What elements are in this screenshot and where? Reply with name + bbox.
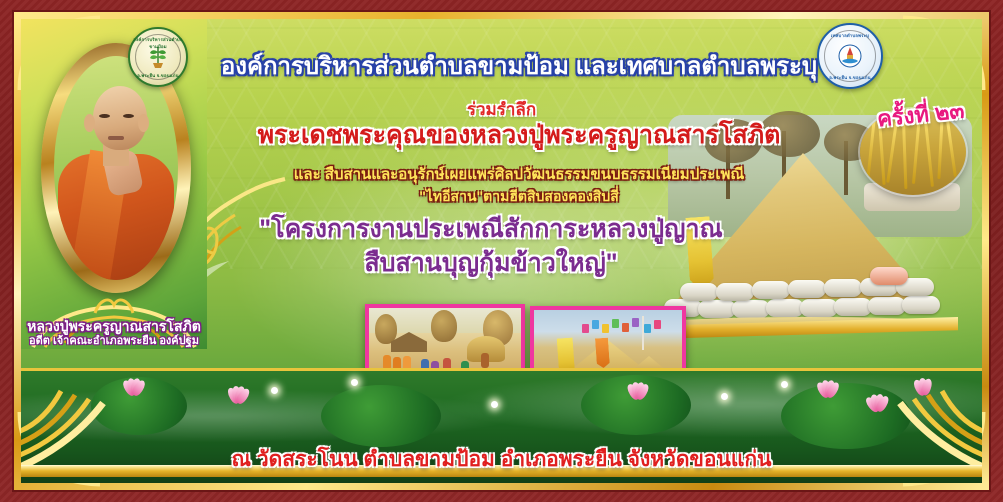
illustration-tree [375, 314, 397, 344]
project-title-line-2: สืบสานบุญกุ้มข้าวใหญ่" [161, 251, 821, 276]
project-title-line-1: "โครงการงานประเพณีสักการะหลวงปู่ญาณ [161, 217, 821, 242]
event-poster-banner: หลวงปู่พระครูญาณสารโสภิต อดีต เจ้าคณะอำเ… [0, 0, 1003, 502]
sparkle [491, 401, 498, 408]
flag-pole [642, 316, 644, 350]
sandbag-row [664, 275, 952, 319]
festival-flag [622, 323, 629, 332]
venue-line: ณ วัดสระโนน ตำบลขามป้อม อำเภอพระยืน จังห… [21, 449, 982, 470]
monk-name: หลวงปู่พระครูญาณสารโสภิต [21, 319, 207, 334]
festival-flag [612, 319, 619, 328]
monk-mouth [108, 136, 124, 140]
sparkle [781, 381, 788, 388]
festival-flag [602, 324, 609, 333]
festival-flag [654, 320, 661, 329]
festival-flag [644, 324, 651, 333]
sparkle [351, 379, 358, 386]
sao-kham-pom-seal: องค์การบริหารส่วนตำบลขามป้อม อ.พระยืน จ.… [128, 27, 188, 87]
sparkle [271, 387, 278, 394]
illustration-tree [431, 310, 457, 342]
orange-flag [595, 338, 610, 369]
seal-top-text: เทศบาลตำบลพระบุ [819, 32, 881, 39]
lotus-flower [621, 377, 655, 401]
honor-line: พระเดชพระคุณของหลวงปู่พระครูญาณสารโสภิต [169, 123, 869, 148]
monk-caption: หลวงปู่พระครูญาณสารโสภิต อดีต เจ้าคณะอำเ… [21, 319, 207, 347]
sparkle [721, 393, 728, 400]
seal-top-text: องค์การบริหารส่วนตำบลขามป้อม [130, 36, 186, 50]
monk-title: อดีต เจ้าคณะอำเภอพระยืน องค์ปฐม [21, 336, 207, 348]
festival-flag [632, 318, 639, 327]
culture-line-1: และ สืบสานและอนุรักษ์เผยแพร่ศิลปวัฒนธรรม… [139, 167, 899, 182]
organization-header: องค์การบริหารส่วนตำบลขามป้อม และเทศบาลตำ… [189, 55, 849, 79]
poster-stage: หลวงปู่พระครูญาณสารโสภิต อดีต เจ้าคณะอำเ… [21, 19, 982, 483]
seal-bottom-text: อ.พระยืน จ.ขอนแก่น [130, 72, 186, 79]
culture-line-2: "ไทอีสาน"ตามฮีตสิบสองคองสิบสี่ [139, 189, 899, 203]
figure-villager [481, 353, 489, 368]
lotus-flower [221, 381, 255, 405]
festival-flag [592, 320, 599, 329]
ruam-ramluek-line: ร่วมรำลึก [21, 101, 982, 118]
lily-pad [321, 385, 441, 447]
festival-flag [582, 324, 589, 333]
